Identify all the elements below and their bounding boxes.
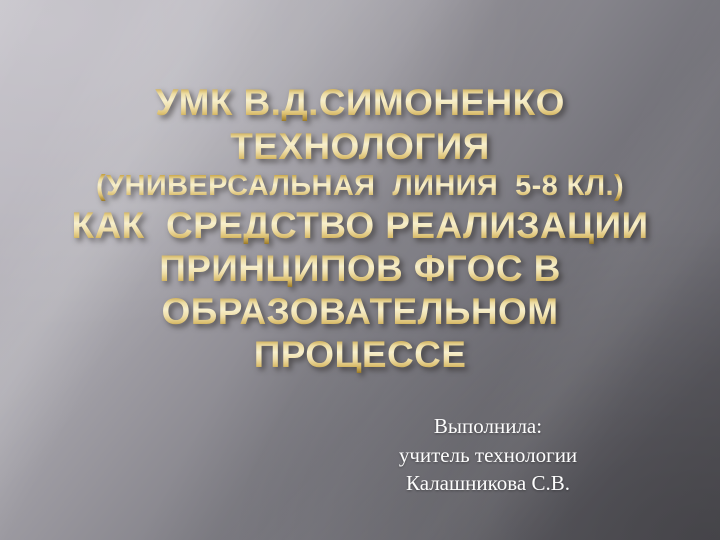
- title-line-6: ОБРАЗОВАТЕЛЬНОМ: [0, 293, 720, 330]
- title-line-1: УМК В.Д.СИМОНЕНКО: [0, 84, 720, 121]
- title-line-7: ПРОЦЕССЕ: [0, 336, 720, 373]
- subtitle-line-author-name: Калашникова С.В.: [278, 469, 698, 498]
- subtitle-line-author-label: Выполнила:: [278, 412, 698, 441]
- title-line-3: (УНИВЕРСАЛЬНАЯ ЛИНИЯ 5-8 КЛ.): [0, 172, 720, 201]
- title-line-4: КАК СРЕДСТВО РЕАЛИЗАЦИИ: [0, 207, 720, 244]
- presentation-slide: УМК В.Д.СИМОНЕНКО ТЕХНОЛОГИЯ (УНИВЕРСАЛЬ…: [0, 0, 720, 540]
- slide-subtitle: Выполнила: учитель технологии Калашников…: [278, 412, 698, 498]
- title-line-5: ПРИНЦИПОВ ФГОС В: [0, 250, 720, 287]
- title-line-2: ТЕХНОЛОГИЯ: [0, 128, 720, 165]
- slide-title: УМК В.Д.СИМОНЕНКО ТЕХНОЛОГИЯ (УНИВЕРСАЛЬ…: [0, 84, 720, 373]
- subtitle-line-role: учитель технологии: [278, 441, 698, 470]
